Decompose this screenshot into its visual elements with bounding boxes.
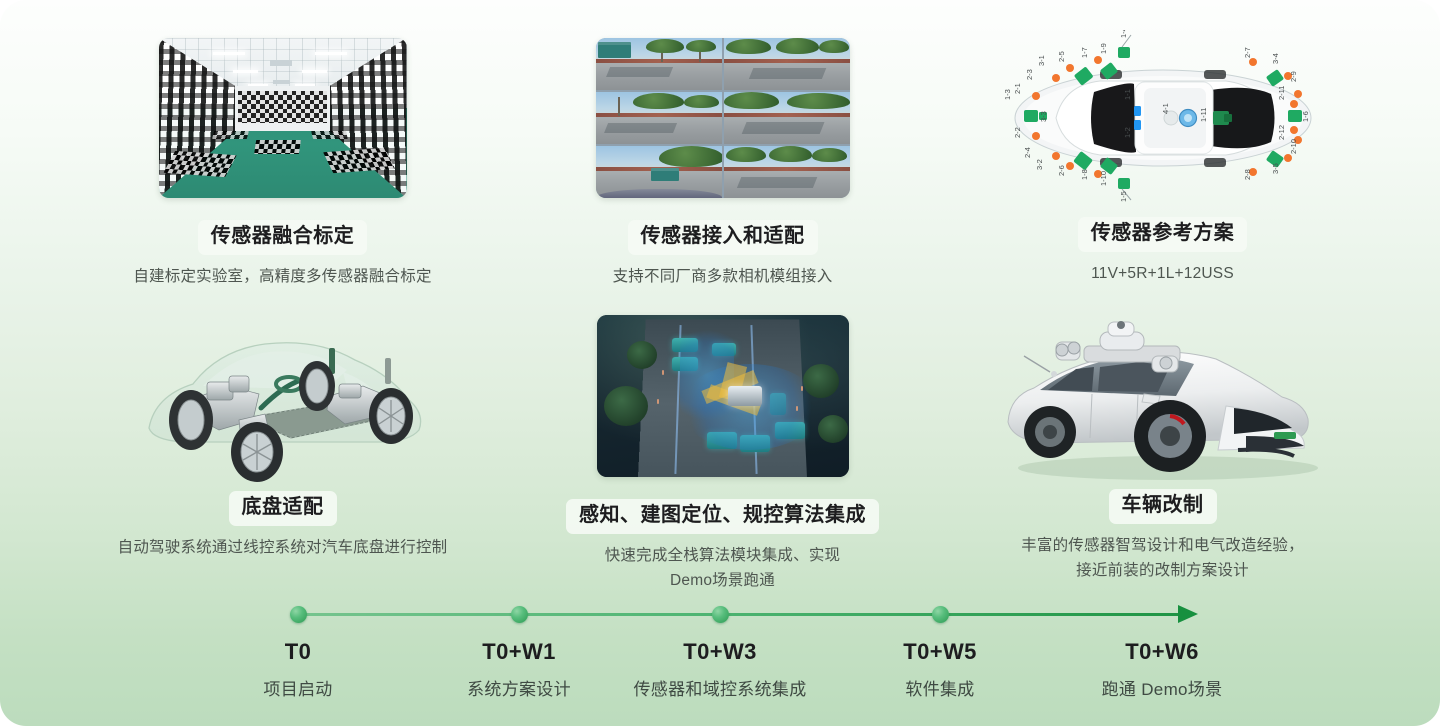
- corner-lidar-lens: [1056, 344, 1068, 356]
- multi-camera-grid-photo: [596, 38, 850, 198]
- card-title: 车辆改制: [1109, 489, 1217, 524]
- timeline-minor-label: 传感器和域控系统集成: [600, 675, 840, 700]
- antenna-base: [1051, 371, 1057, 377]
- tree-shadow: [749, 68, 827, 79]
- svg-text:2-8: 2-8: [1243, 169, 1252, 180]
- license-plate: [1274, 432, 1296, 439]
- project-timeline: T0 项目启动 T0+W1 系统方案设计 T0+W3 传感器和域控系统集成 T0…: [0, 598, 1440, 726]
- timeline-node-t0-w3[interactable]: T0+W3 传感器和域控系统集成: [600, 598, 840, 700]
- timeline-dot: [932, 606, 949, 623]
- roadside-tree: [812, 148, 847, 162]
- calibration-target-mat: [311, 131, 348, 139]
- roadside-tree: [726, 147, 766, 162]
- timeline-minor-label: 软件集成: [820, 675, 1060, 700]
- camera-view-cell: [596, 146, 722, 198]
- card-description-line-1: 快速完成全栈算法模块集成、实现: [475, 544, 970, 569]
- card-sensor-reference-solution: 2-1 1-3 2-2 2-3 2-4 3-1 3-2 2-5 2-6 1-7 …: [915, 30, 1410, 287]
- detected-pedestrian: [796, 406, 798, 411]
- roadside-tree: [686, 40, 716, 51]
- back-wall-checker-pattern: [238, 91, 327, 123]
- strut: [385, 358, 391, 384]
- ego-vehicle: [728, 386, 762, 406]
- camera-view-cell: [596, 38, 722, 90]
- timeline-minor-label: 跑通 Demo场景: [1042, 675, 1282, 700]
- timeline-major-label: T0: [178, 639, 418, 665]
- ceiling-lamp: [233, 70, 258, 73]
- card-title: 传感器接入和适配: [628, 220, 818, 255]
- camera-view-cell: [596, 92, 722, 144]
- tree-shadow: [741, 122, 824, 134]
- svg-text:2-7: 2-7: [1243, 47, 1252, 58]
- calibration-target-mat: [323, 148, 395, 173]
- wheel-rear-right: [369, 388, 413, 444]
- roadside-tree: [769, 146, 812, 162]
- gnss-antenna: [1024, 356, 1050, 372]
- card-title: 传感器参考方案: [1078, 217, 1248, 252]
- roadside-tree: [776, 38, 819, 54]
- timeline-minor-label: 项目启动: [178, 675, 418, 700]
- tree-shadow: [736, 177, 816, 188]
- camera-view-cell: [724, 38, 850, 90]
- detected-pedestrian: [801, 386, 803, 391]
- roadside-tree: [659, 146, 722, 167]
- svg-text:1-10: 1-10: [1099, 171, 1108, 186]
- card-chassis-adaptation: 底盘适配 自动驾驶系统通过线控系统对汽车底盘进行控制: [35, 300, 530, 561]
- retrofitted-test-vehicle-photo: [988, 310, 1338, 485]
- svg-text:3-3: 3-3: [1039, 111, 1048, 122]
- svg-text:2-2: 2-2: [1013, 127, 1022, 138]
- ceiling-lamp: [315, 52, 347, 55]
- card-description: 快速完成全栈算法模块集成、实现 Demo场景跑通: [475, 544, 970, 594]
- card-algorithm-integration: 感知、建图定位、规控算法集成 快速完成全栈算法模块集成、实现 Demo场景跑通: [475, 315, 970, 594]
- detected-pedestrian: [662, 370, 664, 375]
- timeline-node-t0-w6[interactable]: T0+W6 跑通 Demo场景: [1042, 598, 1282, 700]
- svg-text:1-6: 1-6: [1301, 111, 1310, 122]
- svg-text:3-2: 3-2: [1035, 159, 1044, 170]
- road-curb: [724, 59, 850, 63]
- calibration-lab-photo: [159, 38, 407, 198]
- svg-text:2-6: 2-6: [1057, 165, 1066, 176]
- card-vehicle-retrofit: 车辆改制 丰富的传感器智驾设计和电气改造经验， 接近前装的改制方案设计: [915, 310, 1410, 584]
- roadside-tree: [726, 39, 771, 54]
- svg-text:1-11: 1-11: [1199, 108, 1208, 122]
- sensor-layout-svg: 2-1 1-3 2-2 2-3 2-4 3-1 3-2 2-5 2-6 1-7 …: [998, 30, 1328, 205]
- timeline-node-t0[interactable]: T0 项目启动: [178, 598, 418, 700]
- road-curb: [596, 113, 722, 117]
- card-title: 传感器融合标定: [198, 220, 368, 255]
- card-description-line-1: 丰富的传感器智驾设计和电气改造经验，: [915, 534, 1410, 559]
- svg-text:1-2: 1-2: [1123, 127, 1132, 138]
- svg-text:2-11: 2-11: [1277, 86, 1286, 100]
- calibration-target-mat: [254, 140, 301, 154]
- lidar-sensor: [1117, 321, 1125, 329]
- roadside-tree: [787, 93, 850, 109]
- capability-card-grid: 传感器融合标定 自建标定实验室，高精度多传感器融合标定: [0, 0, 1440, 600]
- camera-view-cell: [724, 92, 850, 144]
- ceiling-lamp: [213, 52, 245, 55]
- timeline-dot: [712, 606, 729, 623]
- svg-text:2-10: 2-10: [1289, 139, 1298, 154]
- timeline-major-label: T0+W5: [820, 639, 1060, 665]
- svg-text:3-5: 3-5: [1271, 163, 1280, 174]
- road-curb: [724, 167, 850, 171]
- card-title: 感知、建图定位、规控算法集成: [566, 499, 879, 534]
- parked-truck: [598, 42, 631, 58]
- road-curb: [596, 59, 722, 63]
- card-description: 11V+5R+1L+12USS: [915, 262, 1410, 287]
- svg-text:3-4: 3-4: [1271, 53, 1280, 64]
- timeline-major-label: T0+W6: [1042, 639, 1282, 665]
- card-sensor-integration: 传感器接入和适配 支持不同厂商多款相机模组接入: [475, 38, 970, 290]
- test-vehicle-svg: [988, 310, 1338, 485]
- svg-text:2-1: 2-1: [1013, 83, 1022, 94]
- card-title: 底盘适配: [229, 491, 337, 526]
- svg-text:2-12: 2-12: [1277, 125, 1286, 140]
- tree-shadow: [603, 123, 676, 133]
- camera-view-cell: [724, 146, 850, 198]
- car-top-view: [1015, 70, 1311, 167]
- svg-text:2-3: 2-3: [1025, 69, 1034, 80]
- ceiling-vent: [273, 80, 290, 84]
- wheel-front: [1134, 400, 1206, 472]
- timeline-major-label: T0+W3: [600, 639, 840, 665]
- card-description: 支持不同厂商多款相机模组接入: [475, 265, 970, 290]
- ceiling-vent: [270, 60, 292, 66]
- roadside-tree: [684, 95, 719, 107]
- tree-trunk: [618, 97, 620, 116]
- svg-text:1-3: 1-3: [1003, 89, 1012, 100]
- calibration-target-mat: [212, 131, 249, 139]
- timeline-dot: [290, 606, 307, 623]
- svg-text:1-5: 1-5: [1119, 191, 1128, 202]
- timeline-node-t0-w5[interactable]: T0+W5 软件集成: [820, 598, 1060, 700]
- roadside-tree: [819, 40, 849, 52]
- perception-scene-visualization: [597, 315, 849, 477]
- card-description-line-2: Demo场景跑通: [475, 569, 970, 594]
- front-splitter: [1238, 450, 1294, 456]
- svg-text:2-4: 2-4: [1023, 147, 1032, 158]
- timeline-dot: [511, 606, 528, 623]
- svg-text:1-1: 1-1: [1123, 89, 1132, 100]
- svg-text:4-1: 4-1: [1161, 103, 1170, 114]
- roadside-tree: [724, 92, 779, 109]
- wheel-front-left: [169, 390, 213, 450]
- corner-lidar-lens: [1160, 357, 1172, 369]
- wheel-rear: [1024, 406, 1076, 458]
- wheel-front-right: [231, 422, 283, 482]
- wheel-rear-left: [299, 361, 335, 411]
- transparent-chassis-render: [133, 300, 433, 485]
- poster-canvas: 传感器融合标定 自建标定实验室，高精度多传感器融合标定: [0, 0, 1440, 726]
- svg-text:1-7: 1-7: [1080, 47, 1089, 58]
- svg-text:1-9: 1-9: [1099, 43, 1108, 54]
- card-description: 丰富的传感器智驾设计和电气改造经验， 接近前装的改制方案设计: [915, 534, 1410, 584]
- svg-text:3-1: 3-1: [1037, 55, 1046, 66]
- card-description-line-2: 接近前装的改制方案设计: [915, 559, 1410, 584]
- roadside-tree: [633, 93, 683, 109]
- svg-text:1-8: 1-8: [1080, 169, 1089, 180]
- card-description: 自建标定实验室，高精度多传感器融合标定: [35, 265, 530, 290]
- corner-lidar-lens: [1068, 342, 1080, 354]
- ceiling-lamp: [302, 70, 327, 73]
- svg-text:2-9: 2-9: [1289, 71, 1298, 82]
- card-sensor-fusion-calibration: 传感器融合标定 自建标定实验室，高精度多传感器融合标定: [35, 38, 530, 290]
- vehicle-sensor-layout-diagram: 2-1 1-3 2-2 2-3 2-4 3-1 3-2 2-5 2-6 1-7 …: [998, 30, 1328, 205]
- card-description: 自动驾驶系统通过线控系统对汽车底盘进行控制: [35, 536, 530, 561]
- chassis-svg: [133, 300, 433, 485]
- street-tree: [627, 341, 657, 369]
- svg-text:1-4: 1-4: [1119, 30, 1128, 38]
- road-curb: [724, 113, 850, 117]
- roadside-tree: [646, 39, 684, 53]
- svg-text:2-5: 2-5: [1057, 51, 1066, 62]
- leading-truck: [651, 168, 679, 182]
- detected-pedestrian: [657, 399, 659, 404]
- tree-shadow: [606, 67, 673, 77]
